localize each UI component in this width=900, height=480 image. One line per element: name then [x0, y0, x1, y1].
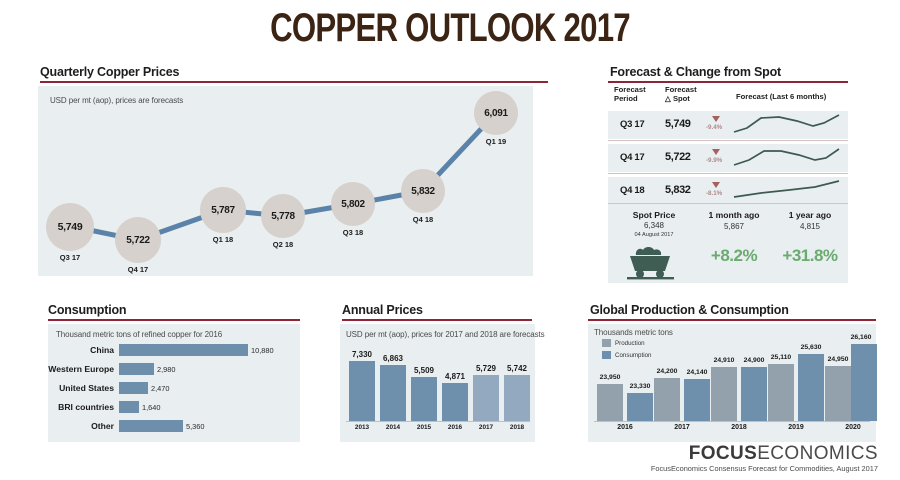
global-cons-value-2019: 25,630 [795, 344, 827, 351]
consumption-value-china: 10,880 [251, 346, 274, 355]
annual-cat-2016: 2016 [441, 424, 469, 431]
sparkline-3 [731, 178, 843, 204]
spot-price-date: 04 August 2017 [608, 232, 700, 238]
sparkline-1 [731, 112, 843, 138]
arrow-down-icon-2 [712, 149, 720, 155]
annual-cat-2013: 2013 [348, 424, 376, 431]
datapoint-label-q318: Q3 18 [331, 228, 375, 237]
arrow-down-icon-1 [712, 116, 720, 122]
legend-label-consumption: Consumption [615, 352, 651, 359]
forecast-row-1-period: Q3 17 [620, 119, 644, 130]
global-axis [594, 421, 870, 422]
annual-cat-2015: 2015 [410, 424, 438, 431]
col-header-sparkline: Forecast (Last 6 months) [736, 93, 826, 102]
datapoint-bubble-q119: 6,091 [474, 91, 518, 135]
consumption-label-china: China [52, 345, 114, 355]
consumption-value-united-states: 2,470 [151, 384, 170, 393]
global-prod-bar-2017 [654, 378, 680, 421]
sparkline-2 [731, 145, 843, 171]
section-title-global: Global Production & Consumption [590, 303, 789, 317]
legend-swatch-production [602, 339, 611, 347]
global-prod-value-2016: 23,950 [594, 374, 626, 381]
annual-bar-2018 [504, 375, 530, 421]
annual-cat-2018: 2018 [503, 424, 531, 431]
spot-year-label: 1 year ago [775, 210, 845, 220]
annual-caption: USD per mt (aop), prices for 2017 and 20… [346, 330, 545, 339]
consumption-bar-western-europe [119, 363, 154, 375]
consumption-bar-china [119, 344, 248, 356]
global-prod-bar-2016 [597, 384, 623, 421]
global-cat-2019: 2019 [768, 424, 824, 431]
datapoint-bubble-q417: 5,722 [115, 217, 161, 263]
annual-value-2014: 6,863 [379, 354, 407, 363]
brand-logo-light: ECONOMICS [757, 443, 878, 464]
annual-bar-2016 [442, 383, 468, 421]
forecast-row-1-value: 5,749 [665, 118, 691, 130]
section-rule-annual [342, 319, 532, 321]
consumption-bar-bri-countries [119, 401, 139, 413]
spot-month-value: 5,867 [695, 222, 773, 231]
global-cat-2018: 2018 [711, 424, 767, 431]
forecast-row-2-change: -9.9% [706, 157, 722, 164]
global-cons-value-2016: 23,330 [624, 383, 656, 390]
global-prod-value-2018: 24,910 [708, 357, 740, 364]
col-header-period: Forecast Period [614, 86, 646, 103]
consumption-label-other: Other [52, 421, 114, 431]
global-cons-value-2020: 26,160 [845, 334, 877, 341]
forecast-row-divider-2 [608, 173, 848, 174]
annual-cat-2014: 2014 [379, 424, 407, 431]
annual-value-2018: 5,742 [503, 364, 531, 373]
datapoint-label-q119: Q1 19 [474, 137, 518, 146]
footer-subtitle: FocusEconomics Consensus Forecast for Co… [651, 464, 878, 473]
spot-price-label: Spot Price [608, 210, 700, 220]
global-prod-bar-2020 [825, 366, 851, 421]
annual-value-2016: 4,871 [441, 372, 469, 381]
global-cat-2020: 2020 [825, 424, 881, 431]
spot-month-label: 1 month ago [695, 210, 773, 220]
legend-label-production: Production [615, 340, 645, 347]
brand-logo: FOCUSECONOMICS [689, 443, 878, 465]
consumption-caption: Thousand metric tons of refined copper f… [56, 330, 222, 339]
global-cons-bar-2020 [851, 344, 877, 421]
spot-month-change: +8.2% [690, 246, 778, 266]
forecast-row-divider-3 [608, 203, 848, 204]
annual-value-2013: 7,330 [348, 350, 376, 359]
annual-value-2015: 5,509 [410, 366, 438, 375]
forecast-row-3-value: 5,832 [665, 184, 691, 196]
annual-value-2017: 5,729 [472, 364, 500, 373]
annual-cat-2017: 2017 [472, 424, 500, 431]
global-prod-value-2020: 24,950 [822, 356, 854, 363]
consumption-value-western-europe: 2,980 [157, 365, 176, 374]
consumption-value-bri-countries: 1,640 [142, 403, 161, 412]
annual-axis [346, 421, 530, 422]
section-rule-global [588, 319, 876, 321]
annual-bar-2013 [349, 361, 375, 421]
forecast-row-divider-1 [608, 140, 848, 141]
page-title: COPPER OUTLOOK 2017 [99, 6, 801, 51]
legend-swatch-consumption [602, 351, 611, 359]
spot-price-value: 6,348 [608, 221, 700, 230]
forecast-row-1-change: -9.4% [706, 124, 722, 131]
consumption-value-other: 5,360 [186, 422, 205, 431]
global-prod-bar-2018 [711, 367, 737, 421]
col-header-spot-l2: △ Spot [665, 95, 697, 104]
global-cons-bar-2019 [798, 354, 824, 421]
forecast-row-3-change: -8.1% [706, 190, 722, 197]
datapoint-bubble-q418: 5,832 [401, 169, 445, 213]
global-prod-value-2017: 24,200 [651, 368, 683, 375]
spot-year-change: +31.8% [768, 246, 852, 266]
arrow-down-icon-3 [712, 182, 720, 188]
global-caption: Thousands metric tons [594, 328, 673, 337]
col-header-spot: Forecast △ Spot [665, 86, 697, 103]
quarterly-line-chart: 5,749 Q3 17 5,722 Q4 17 5,787 Q1 18 5,77… [38, 86, 533, 276]
section-rule-forecast [608, 81, 848, 83]
annual-bar-2017 [473, 375, 499, 421]
global-cons-bar-2017 [684, 379, 710, 421]
section-title-consumption: Consumption [48, 303, 126, 317]
forecast-row-3-period: Q4 18 [620, 185, 644, 196]
forecast-row-2-period: Q4 17 [620, 152, 644, 163]
datapoint-bubble-q218: 5,778 [261, 194, 305, 238]
spot-year-value: 4,815 [775, 222, 845, 231]
datapoint-label-q218: Q2 18 [261, 240, 305, 249]
global-cons-value-2017: 24,140 [681, 369, 713, 376]
forecast-row-2-value: 5,722 [665, 151, 691, 163]
col-header-period-l2: Period [614, 95, 646, 104]
datapoint-bubble-q317: 5,749 [46, 203, 94, 251]
datapoint-label-q118: Q1 18 [200, 235, 246, 244]
global-cons-bar-2018 [741, 367, 767, 421]
datapoint-label-q417: Q4 17 [115, 265, 161, 274]
section-title-annual: Annual Prices [342, 303, 423, 317]
infographic-page: COPPER OUTLOOK 2017 Quarterly Copper Pri… [0, 0, 900, 480]
section-title-forecast: Forecast & Change from Spot [610, 65, 781, 79]
consumption-label-bri-countries: BRI countries [42, 402, 114, 412]
section-rule-consumption [48, 319, 300, 321]
global-prod-value-2019: 25,110 [765, 354, 797, 361]
annual-bar-2014 [380, 365, 406, 421]
consumption-label-united-states: United States [42, 383, 114, 393]
datapoint-label-q317: Q3 17 [46, 253, 94, 262]
global-cat-2017: 2017 [654, 424, 710, 431]
mine-cart-icon [622, 243, 684, 281]
datapoint-bubble-q318: 5,802 [331, 182, 375, 226]
datapoint-bubble-q118: 5,787 [200, 187, 246, 233]
global-cat-2016: 2016 [597, 424, 653, 431]
consumption-bar-other [119, 420, 183, 432]
global-prod-bar-2019 [768, 364, 794, 421]
brand-logo-bold: FOCUS [689, 443, 758, 464]
section-title-quarterly: Quarterly Copper Prices [40, 65, 179, 79]
consumption-label-western-europe: Western Europe [42, 364, 114, 374]
consumption-bar-united-states [119, 382, 148, 394]
datapoint-label-q418: Q4 18 [401, 215, 445, 224]
global-cons-bar-2016 [627, 393, 653, 421]
annual-bar-2015 [411, 377, 437, 421]
section-rule-quarterly [40, 81, 548, 83]
